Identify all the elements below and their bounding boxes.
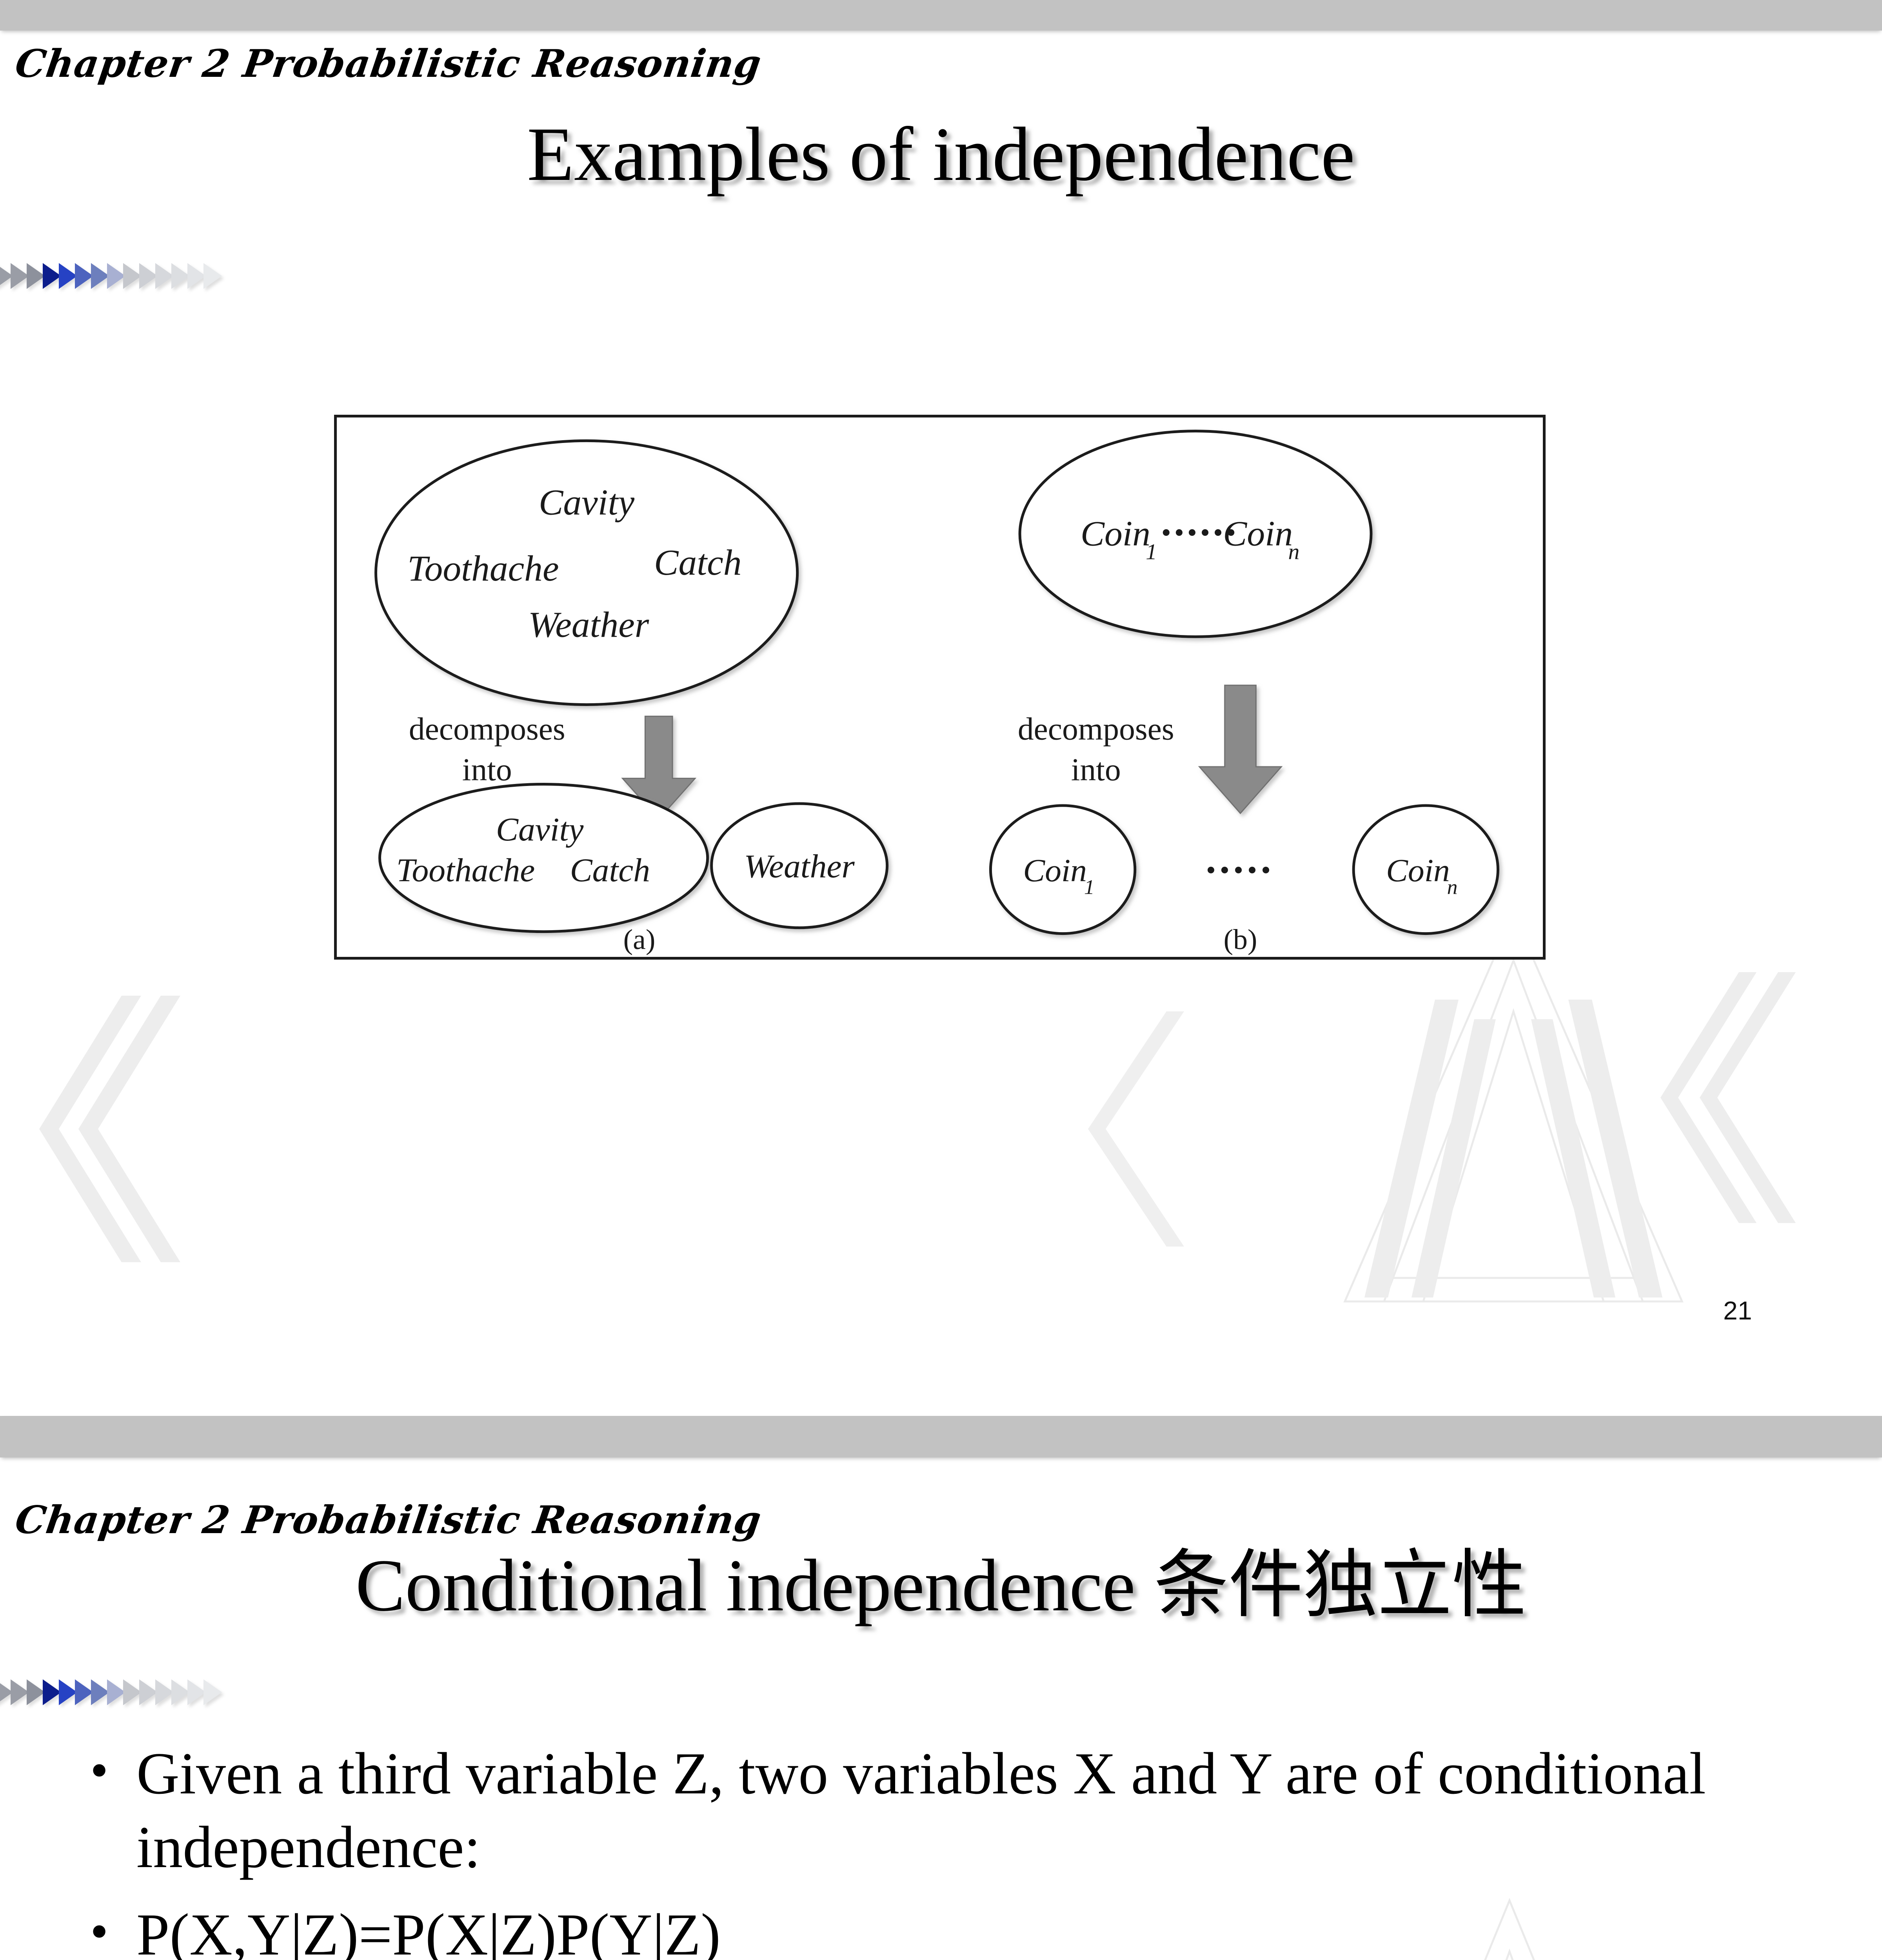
- decomposes-text-b-line2: into: [1071, 752, 1121, 788]
- figure-caption-a: (a): [623, 924, 656, 955]
- ellipse-label-cavity-bottom: Cavity: [496, 811, 584, 848]
- chevron-icon: [123, 263, 142, 289]
- chevron-icon: [123, 1679, 142, 1705]
- ellipse-label-cavity-top: Cavity: [539, 483, 635, 523]
- chevron-icon: [171, 263, 190, 289]
- ellipse-label-coin1-sub-bottom: 1: [1084, 875, 1095, 899]
- down-arrow-b: [1199, 685, 1281, 813]
- ellipse-label-toothache-bottom: Toothache: [396, 852, 535, 889]
- chevron-icon: [171, 1679, 190, 1705]
- figure-caption-b: (b): [1224, 924, 1257, 955]
- chevron-icon: [11, 1679, 29, 1705]
- ellipse-label-coinn-sub-top: n: [1288, 539, 1299, 564]
- page-title: Conditional independence 条件独立性: [0, 1546, 1882, 1625]
- bullet-marker: •: [90, 1898, 136, 1960]
- decomposes-text-b-line1: decomposes: [1018, 711, 1174, 747]
- ellipse-label-catch-bottom: Catch: [570, 852, 650, 889]
- top-gray-band: [0, 0, 1882, 31]
- ellipse-label-coin1-top: Coin: [1081, 514, 1150, 554]
- bullet-item-definition: • Given a third variable Z, two variable…: [90, 1737, 1792, 1884]
- chevron-icon: [187, 1679, 206, 1705]
- chevron-icon: [11, 263, 29, 289]
- chevron-rule: [0, 261, 220, 291]
- ellipse-dots-bottom: •••••: [1206, 855, 1275, 886]
- chevron-icon: [139, 1679, 158, 1705]
- chevron-icon: [107, 1679, 125, 1705]
- page-number: 21: [1723, 1296, 1752, 1325]
- decomposes-text-a-line1: decomposes: [409, 711, 565, 747]
- bullet-list: • Given a third variable Z, two variable…: [90, 1737, 1792, 1960]
- chevron-icon: [203, 263, 222, 289]
- slide-separator-band: [0, 1416, 1882, 1457]
- ellipse-label-coinn-top: Coin: [1223, 514, 1293, 554]
- page-title: Examples of independence: [0, 114, 1882, 195]
- chevron-icon: [43, 1679, 61, 1705]
- bullet-marker: •: [90, 1737, 136, 1804]
- ellipse-label-coin1-bottom: Coin: [1023, 853, 1087, 889]
- chevron-rule: [0, 1677, 220, 1708]
- bullet-item-formula-joint: • P(X,Y|Z)=P(X|Z)P(Y|Z): [90, 1898, 1792, 1960]
- bullet-text-formula-joint: P(X,Y|Z)=P(X|Z)P(Y|Z): [136, 1898, 1792, 1960]
- chevron-icon: [107, 263, 125, 289]
- chevron-icon: [155, 1679, 174, 1705]
- chevron-icon: [75, 263, 93, 289]
- ellipse-label-toothache-top: Toothache: [407, 548, 559, 589]
- chapter-label: Chapter 2 Probabilistic Reasoning: [13, 41, 764, 86]
- chevron-icon: [75, 1679, 93, 1705]
- ellipse-label-coinn-bottom: Coin: [1386, 853, 1450, 889]
- ellipse-label-coin1-sub-top: 1: [1146, 539, 1157, 564]
- decomposes-text-a-line2: into: [462, 752, 512, 788]
- watermark-chevron-right-1: [1059, 1007, 1215, 1252]
- bullet-text-definition: Given a third variable Z, two variables …: [136, 1737, 1792, 1884]
- chevron-icon: [139, 263, 158, 289]
- chevron-icon: [59, 1679, 77, 1705]
- watermark-pyramid-1: [1215, 902, 1804, 1335]
- watermark-chevron-far-right-1: [1639, 968, 1804, 1229]
- chapter-label: Chapter 2 Probabilistic Reasoning: [13, 1497, 764, 1542]
- chevron-icon: [203, 1679, 222, 1705]
- watermark-chevron-left-1: [24, 992, 188, 1268]
- chevron-icon: [59, 263, 77, 289]
- chevron-icon: [27, 263, 45, 289]
- ellipse-label-catch-top: Catch: [654, 543, 741, 583]
- ellipse-label-weather-top: Weather: [528, 605, 649, 645]
- slide-examples-of-independence: Chapter 2 Probabilistic Reasoning Exampl…: [0, 0, 1882, 1416]
- ellipse-label-coinn-sub-bottom: n: [1447, 875, 1458, 899]
- chevron-icon: [187, 263, 206, 289]
- chevron-icon: [91, 1679, 109, 1705]
- chevron-icon: [27, 1679, 45, 1705]
- chevron-icon: [43, 263, 61, 289]
- ellipse-label-weather-bottom: Weather: [744, 848, 855, 885]
- chevron-icon: [91, 263, 109, 289]
- chevron-icon: [155, 263, 174, 289]
- independence-figure: Cavity Toothache Catch Weather decompose…: [334, 415, 1546, 960]
